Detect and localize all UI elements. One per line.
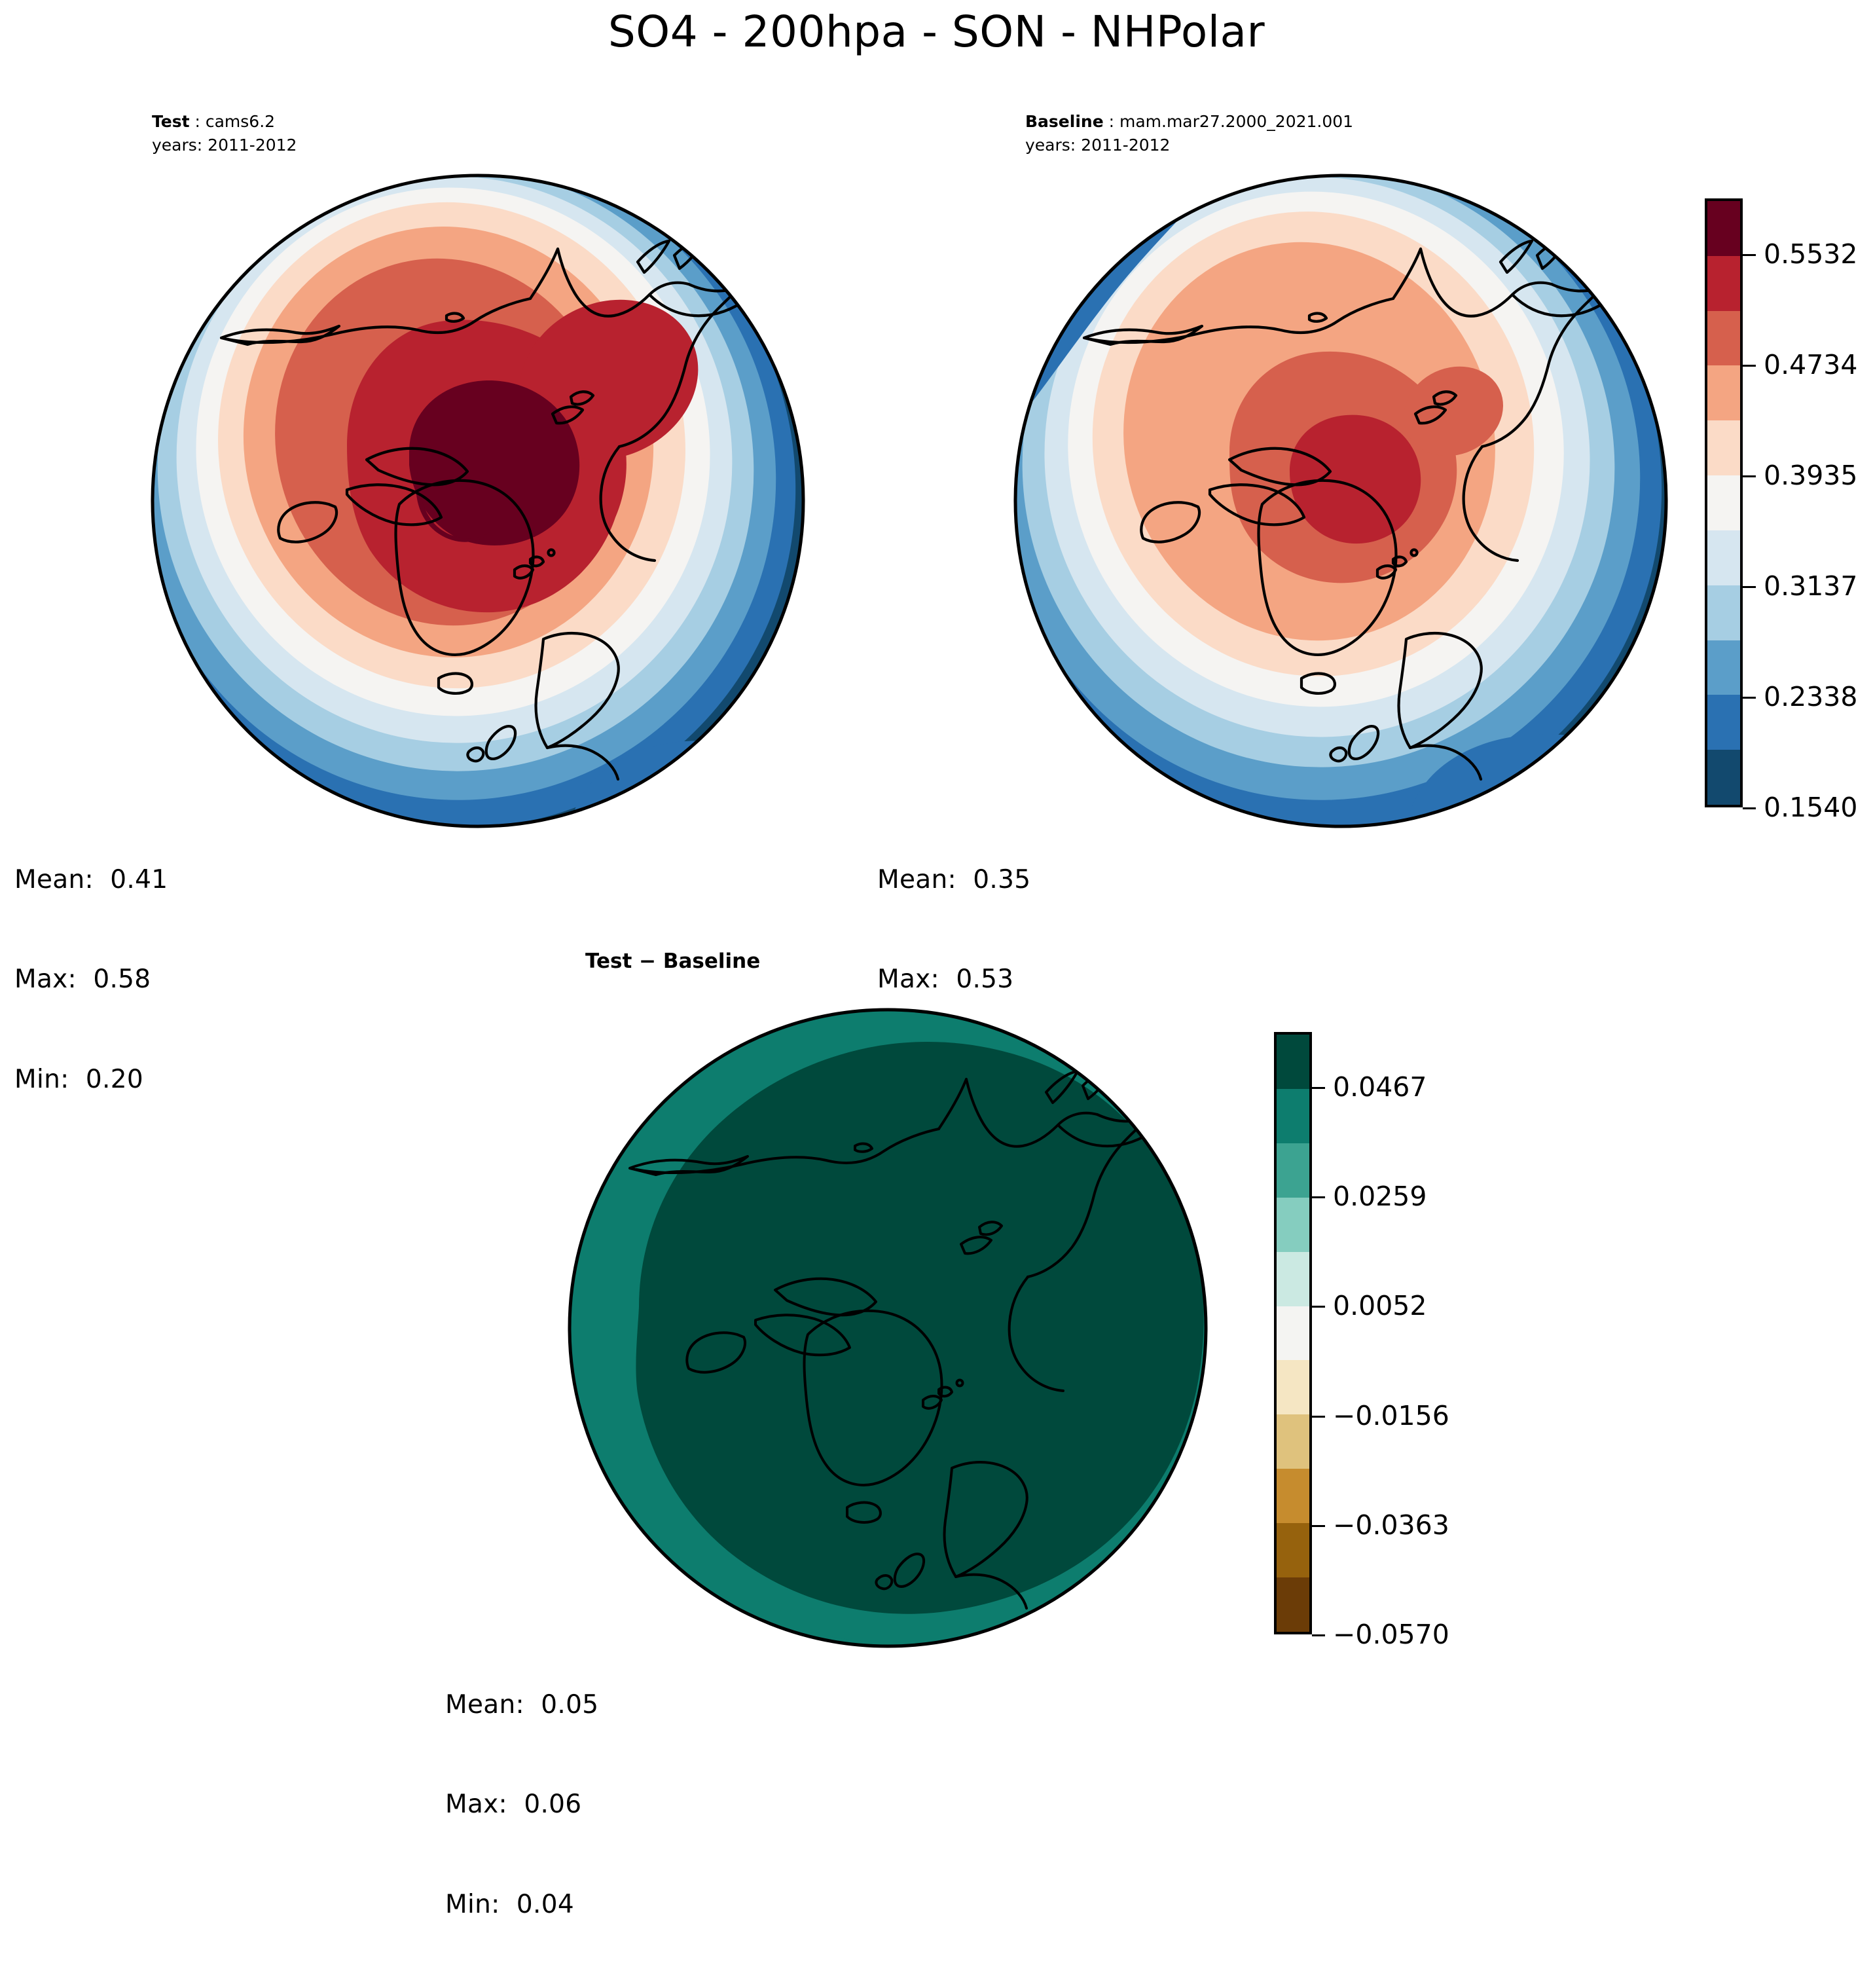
difference-map [560, 999, 1215, 1657]
test-stat-mean: Mean: 0.41 [14, 864, 168, 897]
main-cb-tick-label: 0.4734 [1764, 349, 1857, 380]
test-stats: Mean: 0.41 Max: 0.58 Min: 0.20 [14, 798, 168, 1163]
difference-panel-title: Test − Baseline [585, 949, 760, 973]
difference-stat-max: Max: 0.06 [445, 1788, 598, 1822]
diff-cb-tickmark [1312, 1087, 1325, 1089]
baseline-panel-header: Baseline : mam.mar27.2000_2021.001 years… [1025, 110, 1353, 156]
difference-stat-mean: Mean: 0.05 [445, 1689, 598, 1722]
test-role-label: Test [152, 112, 190, 131]
diff-cb-tickmark [1312, 1525, 1325, 1527]
diff-cb-tickmark [1312, 1416, 1325, 1418]
baseline-years-label: years: 2011-2012 [1025, 134, 1353, 157]
baseline-map [1013, 164, 1668, 838]
figure-suptitle: SO4 - 200hpa - SON - NHPolar [0, 7, 1873, 57]
test-contour-fill [151, 164, 805, 838]
test-stat-min: Min: 0.20 [14, 1063, 168, 1097]
main-cb-tickmark [1743, 807, 1756, 809]
baseline-stat-max: Max: 0.53 [877, 963, 1030, 997]
main-cb-tick-label: 0.2338 [1764, 681, 1857, 712]
main-cb-tickmark [1743, 254, 1756, 256]
main-cb-tickmark [1743, 697, 1756, 699]
baseline-contour-fill [1013, 164, 1668, 838]
main-cb-tick-label: 0.5532 [1764, 238, 1857, 270]
test-map [151, 164, 805, 838]
difference-stat-min: Min: 0.04 [445, 1888, 598, 1922]
diff-cb-tick-label: −0.0363 [1333, 1509, 1449, 1541]
main-cb-tick-label: 0.3935 [1764, 460, 1857, 491]
diff-cb-tick-label: −0.0570 [1333, 1619, 1449, 1650]
main-colorbar[interactable]: 0.5532 0.4734 0.3935 0.3137 0.2338 0.154… [1705, 198, 1868, 807]
diff-cb-tickmark [1312, 1306, 1325, 1308]
diff-cb-tick-label: −0.0156 [1333, 1400, 1449, 1431]
test-separator: : [190, 112, 206, 131]
baseline-case-name: mam.mar27.2000_2021.001 [1119, 112, 1353, 131]
main-colorbar-swatches[interactable] [1705, 198, 1743, 807]
difference-stats: Mean: 0.05 Max: 0.06 Min: 0.04 [445, 1623, 598, 1988]
diff-cb-tickmark [1312, 1196, 1325, 1198]
baseline-role-label: Baseline [1025, 112, 1104, 131]
main-cb-tickmark [1743, 365, 1756, 367]
test-years-label: years: 2011-2012 [152, 134, 297, 157]
difference-colorbar-swatches[interactable] [1274, 1032, 1312, 1634]
diff-cb-tick-label: 0.0052 [1333, 1290, 1427, 1321]
main-cb-tick-label: 0.3137 [1764, 570, 1857, 602]
baseline-map-svg [1013, 164, 1668, 838]
baseline-stat-mean: Mean: 0.35 [877, 864, 1030, 897]
test-panel-header: Test : cams6.2 years: 2011-2012 [152, 110, 297, 156]
diff-cb-tick-label: 0.0259 [1333, 1181, 1427, 1212]
figure-canvas: SO4 - 200hpa - SON - NHPolar Test : cams… [0, 0, 1873, 1746]
diff-cb-tickmark [1312, 1634, 1325, 1636]
diff-cb-tick-label: 0.0467 [1333, 1071, 1427, 1103]
difference-colorbar[interactable]: 0.0467 0.0259 0.0052 −0.0156 −0.0363 −0.… [1274, 1032, 1444, 1634]
main-cb-tickmark [1743, 475, 1756, 477]
test-case-name: cams6.2 [206, 112, 275, 131]
main-cb-tickmark [1743, 586, 1756, 588]
test-stat-max: Max: 0.58 [14, 963, 168, 997]
baseline-separator: : [1104, 112, 1119, 131]
main-cb-tick-label: 0.1540 [1764, 792, 1857, 823]
test-map-svg [151, 164, 805, 838]
difference-map-svg [560, 999, 1215, 1657]
difference-contour-fill [560, 999, 1215, 1657]
